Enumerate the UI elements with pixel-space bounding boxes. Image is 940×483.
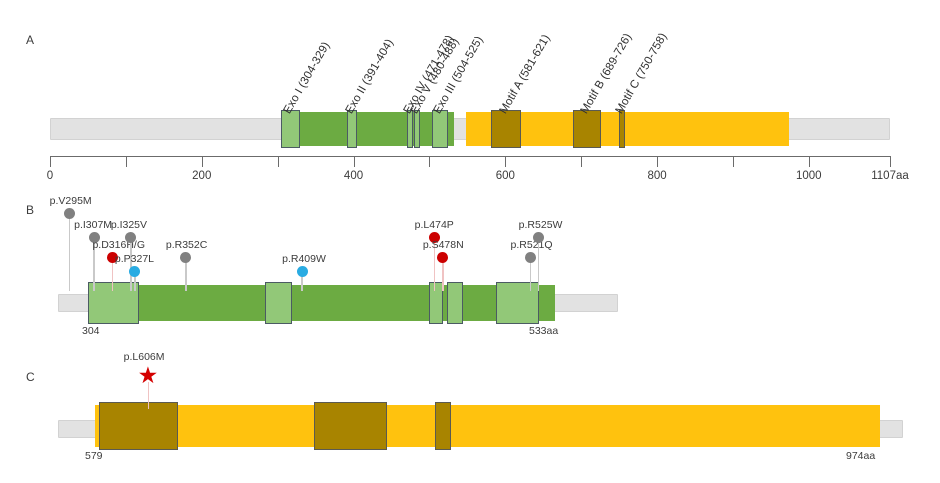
panel-b-lollipop-marker[interactable] [525, 252, 536, 263]
panel-b-lollipop-label: p.I325V [111, 219, 147, 231]
panel-a-axis-label: 400 [314, 170, 394, 182]
panel-b-lollipop-label: p.D316H/G [92, 239, 145, 251]
panel-a-feature-motif-a [491, 110, 521, 148]
panel-c-start-label: 579 [85, 450, 103, 462]
panel-a-axis-line [50, 156, 890, 157]
panel-a-axis-tick [733, 156, 734, 167]
panel-b-letter: B [26, 203, 34, 217]
panel-a-letter: A [26, 33, 34, 47]
panel-c-polymerase-domain [95, 405, 880, 447]
panel-c-star-marker[interactable]: ★ [138, 364, 159, 387]
panel-a-axis-label: 1000 [769, 170, 849, 182]
panel-b-lollipop-stem [530, 260, 532, 291]
panel-b-lollipop-label: p.R525W [519, 219, 563, 231]
panel-b-lollipop-label: p.R521Q [511, 239, 553, 251]
panel-b-subdomain-exo-5 [447, 282, 463, 324]
panel-b-lollipop-stem [442, 260, 444, 291]
panel-b-lollipop-stem [69, 216, 71, 291]
panel-b-lollipop-label: p.R409W [282, 253, 326, 265]
panel-c-motif-motif-c [435, 402, 451, 450]
panel-a-exonuclease-domain [281, 112, 455, 146]
panel-a-axis-tick [657, 156, 658, 167]
panel-a-axis-tick [202, 156, 203, 167]
panel-c-end-label: 974aa [846, 450, 875, 462]
panel-b-lollipop-stem [185, 260, 187, 291]
panel-b-exonuclease-domain [88, 285, 555, 321]
panel-a-axis-tick [809, 156, 810, 167]
panel-a-feature-motif-c [619, 110, 625, 148]
panel-b-lollipop-marker[interactable] [437, 252, 448, 263]
panel-b-lollipop-label: p.V295M [50, 195, 92, 207]
panel-b-lollipop-marker[interactable] [180, 252, 191, 263]
panel-b-lollipop-label: p.I307M [74, 219, 112, 231]
panel-b-end-label: 533aa [529, 325, 558, 337]
panel-a-axis-tick [581, 156, 582, 167]
panel-a-feature-exo-1 [281, 110, 300, 148]
panel-b-start-label: 304 [82, 325, 100, 337]
panel-a-caption-motif-a: Motif A (581-621) [498, 33, 553, 116]
panel-a-axis-label: 0 [10, 170, 90, 182]
panel-b-subdomain-exo-3 [496, 282, 539, 324]
panel-b-lollipop-label: p.P327L [115, 253, 154, 265]
panel-a-axis-label: 600 [465, 170, 545, 182]
panel-a-axis-label: 800 [617, 170, 697, 182]
panel-a-feature-exo-5 [414, 110, 420, 148]
panel-c-letter: C [26, 370, 35, 384]
panel-a-axis-tick [890, 156, 891, 167]
panel-a-axis-tick [126, 156, 127, 167]
panel-b-subdomain-exo-4 [429, 282, 443, 324]
panel-a-axis-label: 1107aa [850, 170, 930, 182]
panel-a-feature-exo-2 [347, 110, 357, 148]
panel-a-axis-tick [505, 156, 506, 167]
panel-a-feature-exo-3 [432, 110, 448, 148]
panel-a-axis-label: 200 [162, 170, 242, 182]
panel-b-lollipop-label: p.S478N [423, 239, 464, 251]
protein-domain-figure: AExo I (304-329)Exo II (391-404)Exo IV (… [0, 0, 940, 483]
panel-b-subdomain-exo-2 [265, 282, 292, 324]
panel-a-caption-exo-2: Exo II (391-404) [343, 37, 395, 116]
panel-c-motif-motif-a [99, 402, 178, 450]
panel-b-lollipop-marker[interactable] [297, 266, 308, 277]
panel-a-axis-tick [354, 156, 355, 167]
panel-a-caption-exo-1: Exo I (304-329) [282, 40, 333, 116]
panel-b-lollipop-label: p.L474P [415, 219, 454, 231]
panel-b-lollipop-marker[interactable] [129, 266, 140, 277]
panel-b-lollipop-stem [538, 240, 540, 291]
panel-a-feature-exo-4 [407, 110, 413, 148]
panel-a-axis-tick [50, 156, 51, 167]
panel-a-axis-tick [278, 156, 279, 167]
panel-b-lollipop-label: p.R352C [166, 239, 207, 251]
panel-b-lollipop-stem [112, 260, 114, 291]
panel-c-lollipop-label: p.L606M [124, 351, 165, 363]
panel-a-feature-motif-b [573, 110, 601, 148]
panel-a-axis-tick [429, 156, 430, 167]
panel-c-motif-motif-b [314, 402, 388, 450]
panel-b-lollipop-marker[interactable] [64, 208, 75, 219]
